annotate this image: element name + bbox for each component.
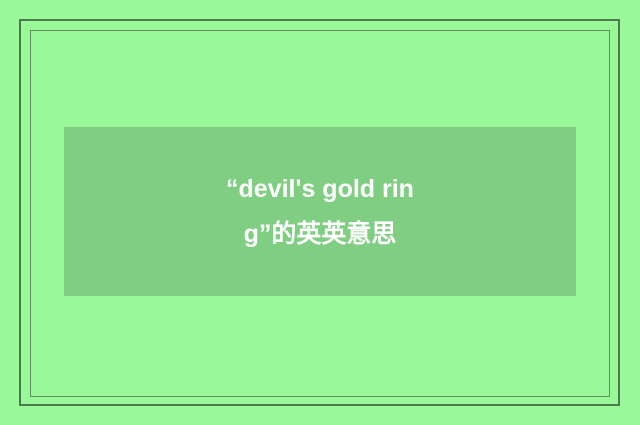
title-banner: “devil's gold ring”的英英意思 — [64, 127, 576, 296]
title-card: “devil's gold ring”的英英意思 — [0, 0, 640, 425]
page-title: “devil's gold ring”的英英意思 — [204, 167, 436, 257]
